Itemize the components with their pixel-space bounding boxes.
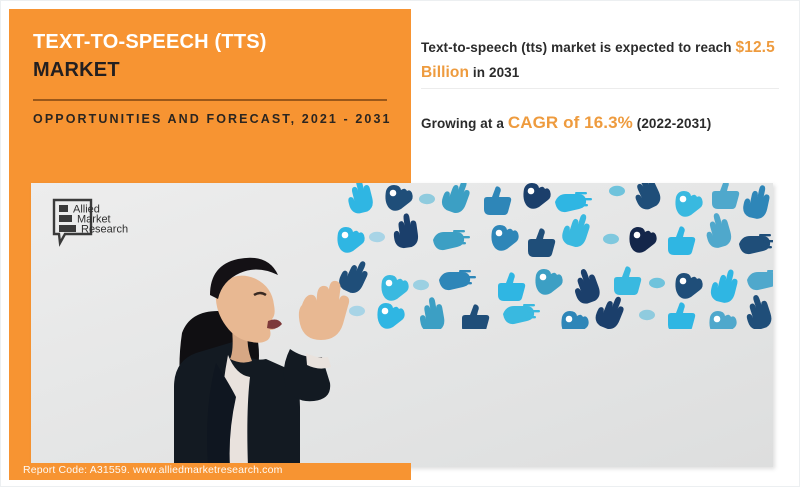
infographic-root: TEXT-TO-SPEECH (TTS) MARKET OPPORTUNITIE… <box>0 0 800 487</box>
logo-svg: Allied Market Research <box>51 197 145 247</box>
stat-cagr: Growing at a CAGR of 16.3% (2022-2031) <box>421 109 777 137</box>
page-subtitle: OPPORTUNITIES AND FORECAST, 2021 - 2031 <box>33 109 395 131</box>
woman-photo <box>156 237 396 467</box>
stat-2-prefix: Growing at a <box>421 116 508 131</box>
footer-report-code: Report Code: A31559. www.alliedmarketres… <box>23 464 282 476</box>
hero-image-card: Allied Market Research <box>31 183 773 467</box>
logo-bar-3 <box>59 225 76 232</box>
title-line-2: MARKET <box>33 59 120 81</box>
stat-1-suffix: in 2031 <box>469 65 519 80</box>
stat-2-suffix: (2022-2031) <box>633 116 712 131</box>
footer-bar: Report Code: A31559. www.alliedmarketres… <box>9 463 411 480</box>
stats-panel: Text-to-speech (tts) market is expected … <box>413 9 793 169</box>
woman-svg <box>156 237 396 467</box>
title-divider <box>33 99 387 101</box>
hand-symbols-cluster <box>331 183 773 329</box>
logo-bar-1 <box>59 205 68 212</box>
stat-1-prefix: Text-to-speech (tts) market is expected … <box>421 40 736 55</box>
stat-2-value: CAGR of 16.3% <box>508 113 633 132</box>
allied-market-research-logo: Allied Market Research <box>51 197 145 247</box>
logo-text-research: Research <box>81 224 128 236</box>
logo-bar-2 <box>59 215 72 222</box>
hands-svg <box>331 183 773 329</box>
cupped-hand-shape <box>299 281 349 340</box>
page-title: TEXT-TO-SPEECH (TTS) MARKET <box>33 29 389 84</box>
stat-market-value: Text-to-speech (tts) market is expected … <box>421 35 777 85</box>
mouth-shape <box>267 320 282 329</box>
title-line-1: TEXT-TO-SPEECH (TTS) <box>33 31 267 53</box>
stats-divider <box>421 88 779 89</box>
